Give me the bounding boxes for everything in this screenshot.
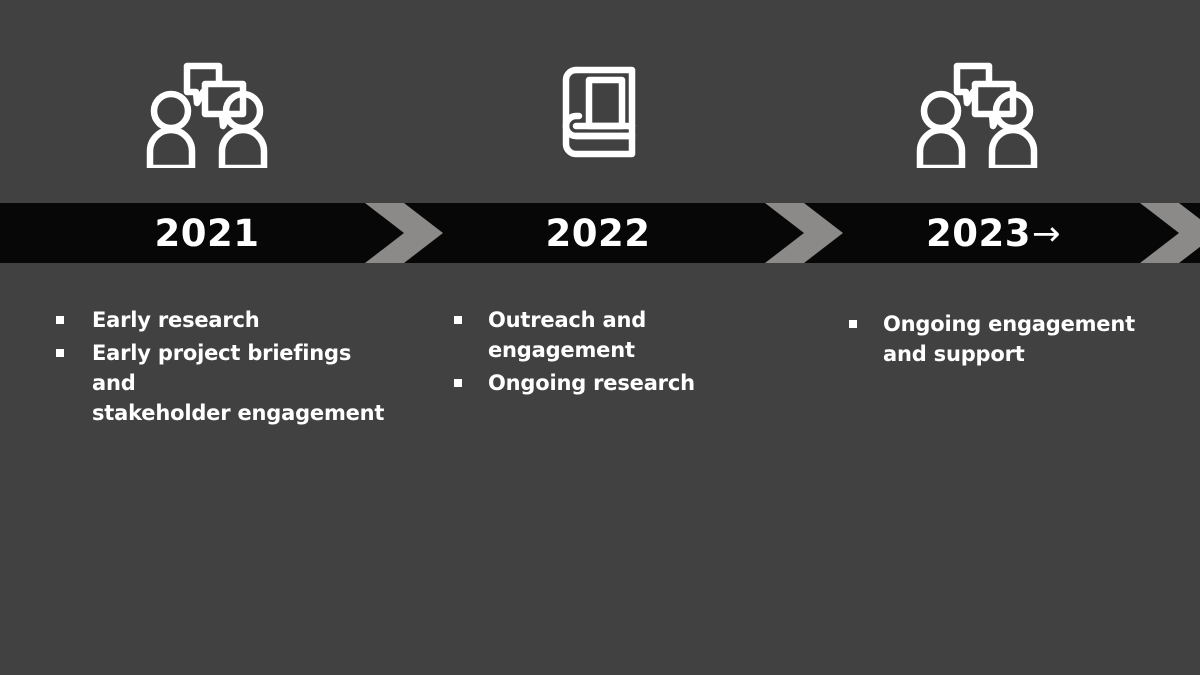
bullet-list-2022: Outreach and engagement Ongoing research [454,305,794,401]
timeline-band [0,203,1200,263]
list-item: Ongoing research [454,368,794,398]
people-speech-bubbles-icon [913,52,1041,172]
bullet-text: Early research [92,305,260,335]
list-item: Early research [56,305,396,335]
bullet-marker-icon [56,316,64,324]
chevron-right-icon-2 [765,203,843,263]
bullet-text: Outreach and engagement [488,305,794,365]
people-speech-bubbles-icon [143,52,271,172]
timeline-slide: 2021 2022 2023→ Early research Early pro… [0,0,1200,675]
bullet-marker-icon [849,320,857,328]
bullet-text: Early project briefings and stakeholder … [92,338,396,428]
bullet-list-2021: Early research Early project briefings a… [56,305,396,431]
chevron-right-icon-1 [365,203,443,263]
list-item: Early project briefings and stakeholder … [56,338,396,428]
bullet-marker-icon [56,349,64,357]
list-item: Ongoing engagement and support [849,309,1179,369]
bullet-text: Ongoing research [488,368,695,398]
chevron-right-icon-3 [1140,203,1200,263]
bullet-list-2023: Ongoing engagement and support [849,309,1179,372]
bullet-marker-icon [454,379,462,387]
bullet-text: Ongoing engagement and support [883,309,1135,369]
list-item: Outreach and engagement [454,305,794,365]
book-icon [556,52,640,172]
bullet-marker-icon [454,316,462,324]
